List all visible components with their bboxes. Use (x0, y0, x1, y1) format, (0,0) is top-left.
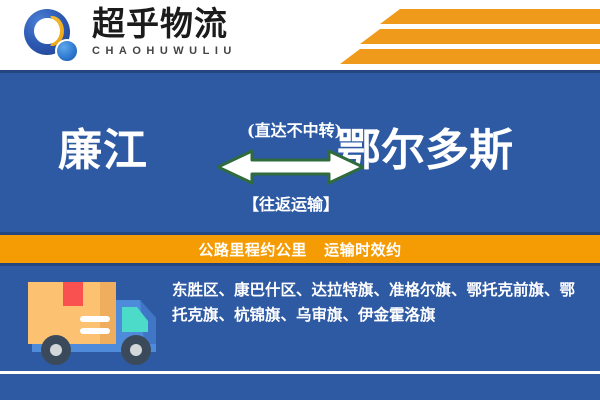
truck-hub-front (130, 344, 142, 356)
truck-dash-2 (80, 328, 110, 334)
truck-label (63, 282, 83, 306)
logo-inner-hole-overlay (36, 18, 60, 44)
header-stripe-1 (380, 9, 600, 24)
double-headed-arrow-icon (218, 145, 363, 185)
info-bar: 公路里程约公里 运输时效约 (0, 232, 600, 266)
arrow-shape (218, 151, 363, 183)
circle-crescent-logo-icon (24, 9, 80, 61)
distance-duration-text: 公路里程约公里 运输时效约 (198, 239, 401, 260)
logo-accent-dot (55, 39, 79, 63)
truck-dash-1 (80, 316, 110, 322)
truck-svg (18, 274, 166, 372)
truck-hub-rear (50, 344, 62, 356)
destination-city: 鄂尔多斯 (337, 126, 513, 176)
logo-text-block: 超乎物流 CHAOHUWULIU (92, 6, 272, 57)
coverage-area-list: 东胜区、康巴什区、达拉特旗、准格尔旗、鄂托克前旗、鄂托克旗、杭锦旗、乌审旗、伊金… (172, 277, 588, 327)
truck-cargo-shade (100, 282, 116, 344)
route-section: 廉江 (直达不中转) 鄂尔多斯 【往返运输】 (0, 70, 600, 235)
company-name: 超乎物流 (92, 6, 272, 42)
road-line (0, 371, 600, 374)
direct-shipping-note: (直达不中转) (247, 117, 342, 141)
coverage-section: 东胜区、康巴什区、达拉特旗、准格尔旗、鄂托克前旗、鄂托克旗、杭锦旗、乌审旗、伊金… (0, 266, 600, 400)
origin-city: 廉江 (58, 126, 148, 176)
company-pinyin: CHAOHUWULIU (92, 45, 272, 57)
banner-header: 超乎物流 CHAOHUWULIU (0, 0, 600, 70)
round-trip-note: 【往返运输】 (243, 191, 339, 215)
delivery-truck-icon (18, 274, 166, 372)
header-stripe-2 (360, 29, 600, 44)
logistics-route-banner: 超乎物流 CHAOHUWULIU 廉江 (直达不中转) 鄂尔多斯 【往返运输】 … (0, 0, 600, 400)
header-stripe-3 (340, 49, 600, 64)
arrow-svg (218, 145, 363, 185)
